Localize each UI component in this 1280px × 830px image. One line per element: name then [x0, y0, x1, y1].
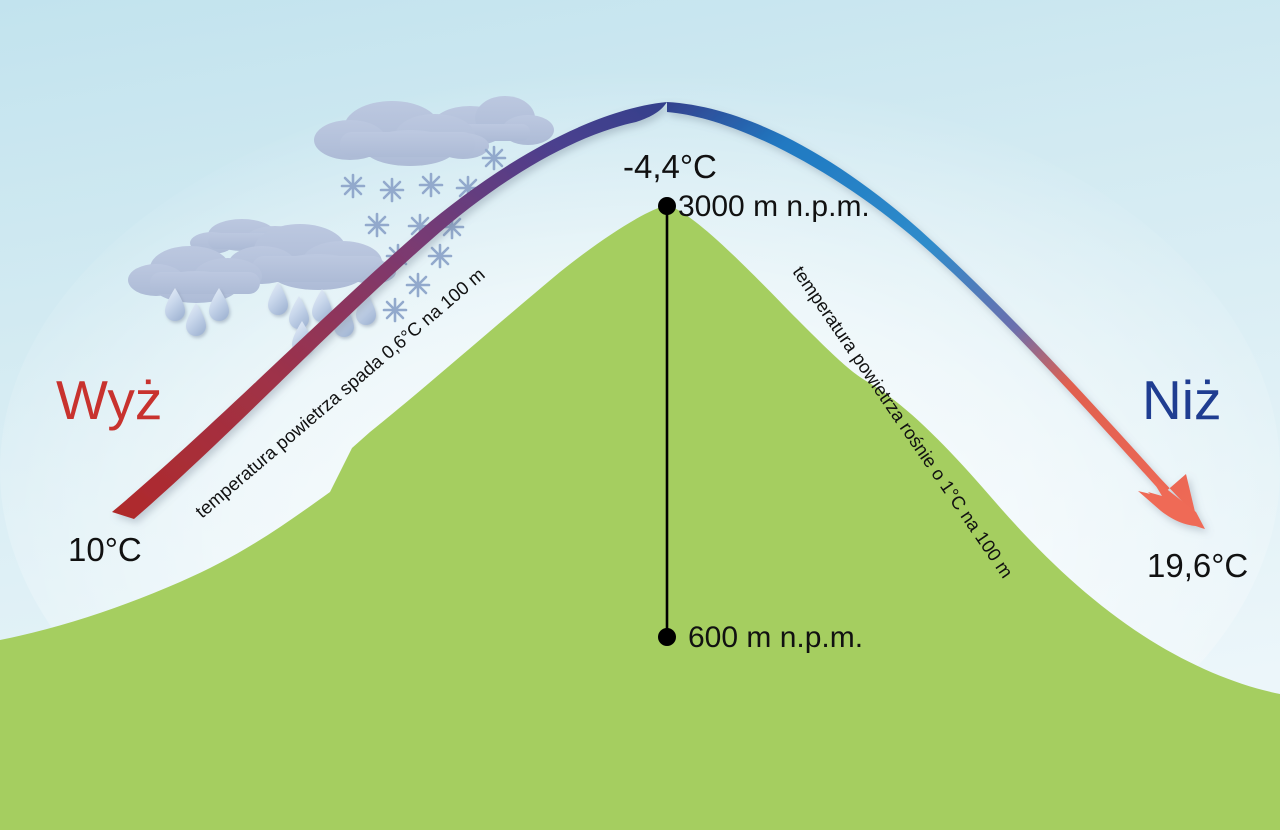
- windward-base-temperature-label: 10°C: [68, 531, 142, 569]
- altitude-measure-line: [0, 0, 1280, 830]
- leeward-base-temperature-label: 19,6°C: [1147, 547, 1248, 585]
- base-altitude-label: 600 m n.p.m.: [688, 621, 863, 655]
- summit-altitude-label: 3000 m n.p.m.: [678, 190, 870, 224]
- marker-dot-icon: [658, 628, 676, 646]
- high-pressure-label: Wyż: [56, 368, 162, 432]
- foehn-effect-diagram: Wyż Niż 10°C -4,4°C 19,6°C 3000 m n.p.m.…: [0, 0, 1280, 830]
- low-pressure-label: Niż: [1142, 368, 1221, 432]
- marker-dot-icon: [658, 197, 676, 215]
- summit-temperature-label: -4,4°C: [623, 148, 717, 186]
